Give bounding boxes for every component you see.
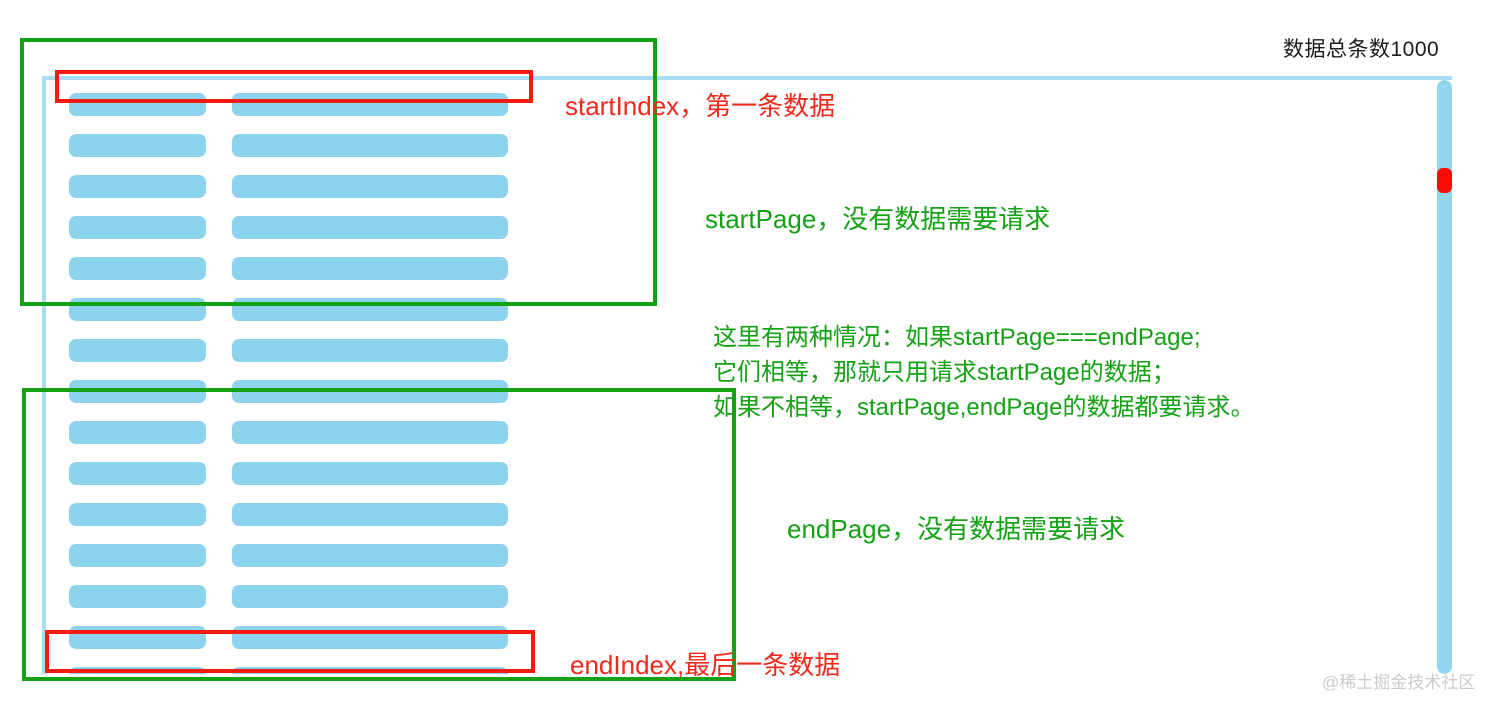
watermark: @稀土掘金技术社区	[1322, 668, 1475, 693]
annotation-cases-line-2: 它们相等，那就只用请求startPage的数据；	[713, 355, 1255, 390]
red-box-start-index	[55, 70, 533, 103]
annotation-cases-line-3: 如果不相等，startPage,endPage的数据都要请求。	[713, 390, 1255, 425]
annotation-start-index: startIndex，第一条数据	[565, 86, 835, 123]
annotation-end-index: endIndex,最后一条数据	[570, 645, 840, 682]
skeleton-pill-left	[69, 339, 206, 362]
annotation-cases-line-1: 这里有两种情况：如果startPage===endPage;	[713, 320, 1255, 355]
skeleton-pill-right	[232, 339, 508, 362]
annotation-start-page: startPage，没有数据需要请求	[705, 199, 1050, 236]
total-count-label: 数据总条数1000	[1283, 33, 1439, 63]
annotation-cases: 这里有两种情况：如果startPage===endPage; 它们相等，那就只用…	[713, 320, 1255, 425]
scrollbar-thumb[interactable]	[1437, 168, 1452, 193]
red-box-end-index	[45, 630, 535, 673]
screenshot-stage: 数据总条数1000 startIndex，第一条数据 startPage，没有数…	[0, 0, 1512, 707]
annotation-end-page: endPage，没有数据需要请求	[787, 509, 1125, 546]
